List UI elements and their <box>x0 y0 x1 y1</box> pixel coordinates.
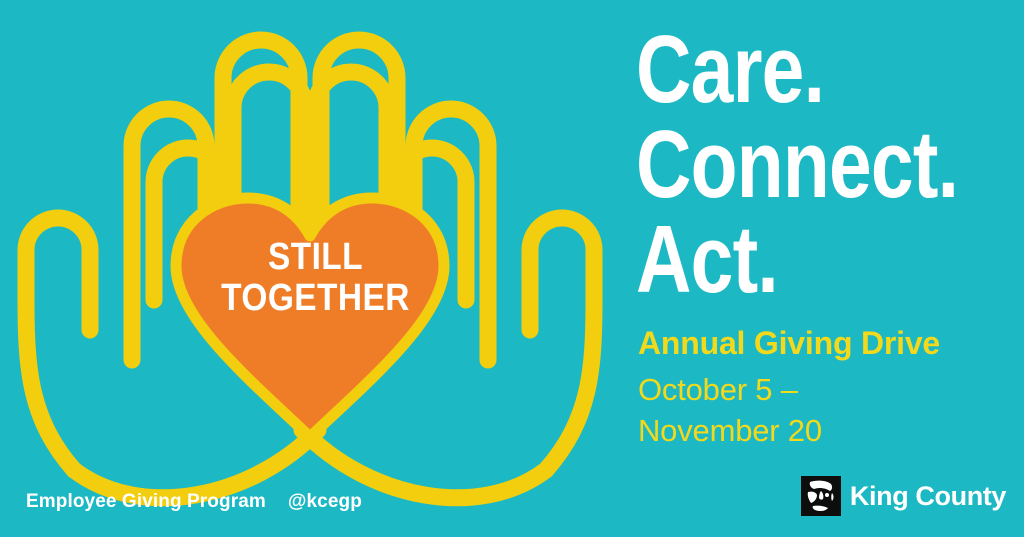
footer-program-line: Employee Giving Program@kcegp <box>26 491 362 513</box>
headline-line-connect: Connect. <box>636 119 958 211</box>
campaign-date-start: October 5 – <box>638 370 822 411</box>
program-name: Employee Giving Program <box>26 491 266 512</box>
heart-shape <box>176 198 444 437</box>
social-handle: @kcegp <box>288 491 362 512</box>
copy-block: Care. Connect. Act. Annual Giving Drive … <box>636 0 1024 537</box>
campaign-dates: October 5 – November 20 <box>638 370 822 452</box>
king-county-logo: King County <box>801 476 1006 516</box>
headline-line-care: Care. <box>636 24 824 116</box>
hands-and-heart-illustration: STILL TOGETHER <box>0 0 620 537</box>
subhead-annual-giving-drive: Annual Giving Drive <box>638 325 940 362</box>
campaign-date-end: November 20 <box>638 411 822 452</box>
headline-line-act: Act. <box>636 214 778 306</box>
giving-drive-poster: STILL TOGETHER Care. Connect. Act. Annua… <box>0 0 1024 537</box>
king-county-wordmark: King County <box>850 481 1006 512</box>
mlk-portrait-icon <box>801 476 841 516</box>
